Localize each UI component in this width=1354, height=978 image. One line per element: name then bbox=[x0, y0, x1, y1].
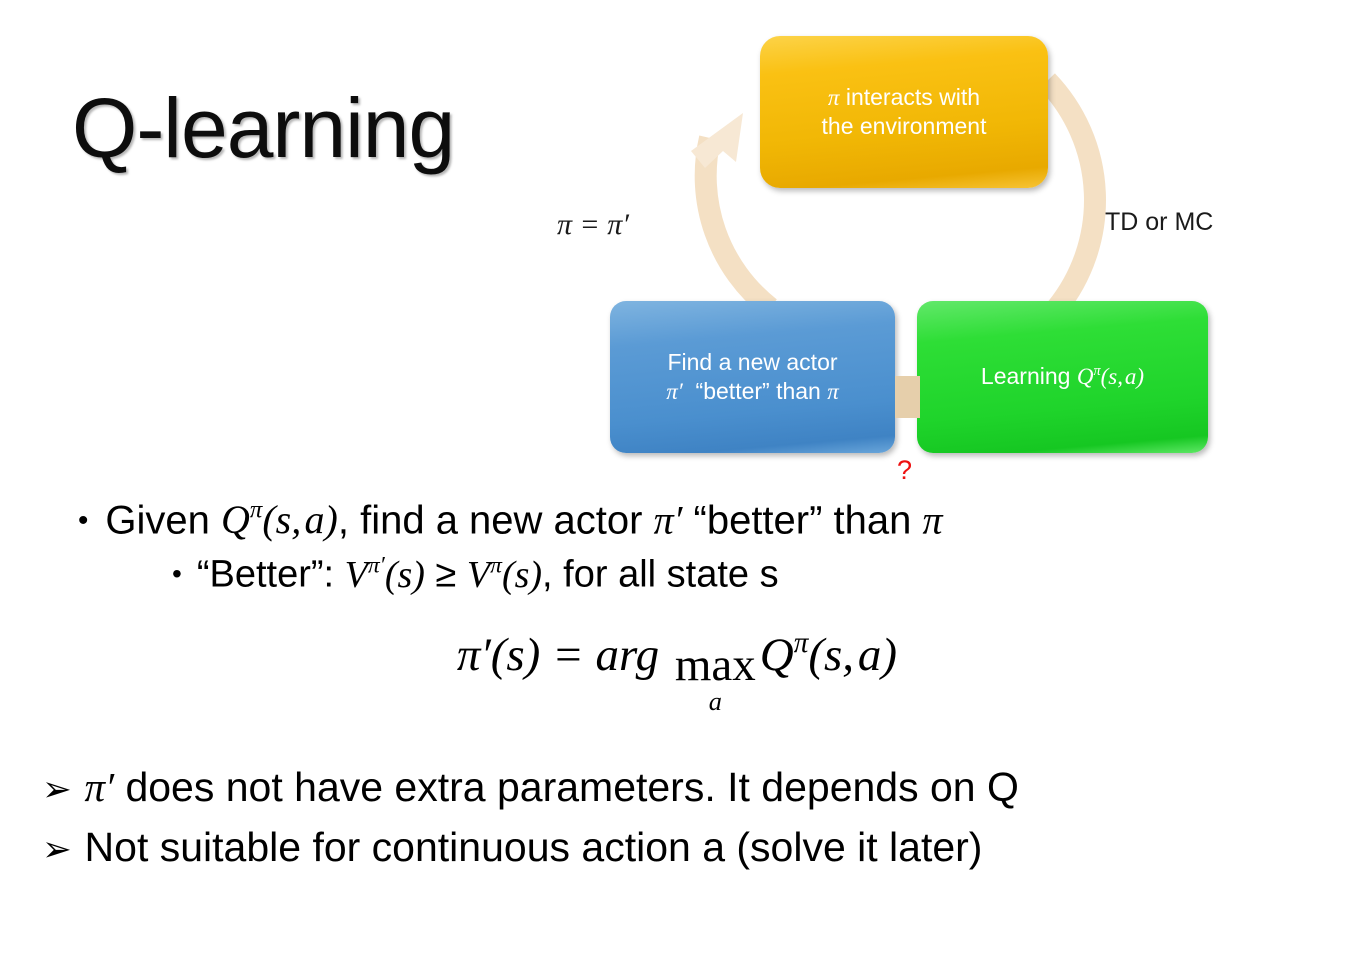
equation-arg: arg bbox=[596, 629, 671, 681]
page-title: Q-learning bbox=[72, 86, 454, 170]
display-equation-argmax: π′(s) = arg maxaQπ(s, a) bbox=[0, 627, 1354, 716]
bullet-better-suffix: , for all state s bbox=[542, 554, 779, 596]
node-learning-prefix: Learning bbox=[981, 363, 1077, 389]
bullet-given-suffix: “better” than bbox=[682, 498, 922, 542]
bullet-better-prefix: “Better”: bbox=[197, 554, 345, 596]
bullet-given-q: • Given Qπ(s, a), find a new actor π′ “b… bbox=[0, 497, 1354, 544]
node-environment-line2: the environment bbox=[822, 113, 987, 139]
node-learning-math: Qπ(s, a) bbox=[1077, 364, 1144, 389]
node-environment-line1: interacts with bbox=[839, 84, 980, 110]
node-environment-text: π interacts with the environment bbox=[812, 83, 997, 142]
node-actor-text: Find a new actor π′ “better” than π bbox=[656, 348, 849, 407]
diagram-node-environment[interactable]: π interacts with the environment bbox=[760, 36, 1048, 188]
arrow-bullet-no-extra-params: ➢ π′ does not have extra parameters. It … bbox=[0, 764, 1354, 811]
bullet-dot-icon: • bbox=[78, 506, 88, 536]
equation-max-op: max bbox=[675, 642, 756, 689]
diagram-node-find-actor[interactable]: Find a new actor π′ “better” than π bbox=[610, 301, 895, 453]
arrow-left-arc bbox=[691, 113, 770, 308]
arrow-bullet-icon: ➢ bbox=[42, 772, 72, 807]
policy-cycle-diagram: π interacts with the environment Find a … bbox=[560, 18, 1260, 488]
diagram-node-learning-q[interactable]: Learning Qπ(s, a) bbox=[917, 301, 1208, 453]
bullet-given-middle: , find a new actor bbox=[338, 498, 654, 542]
bullet-better-definition: • “Better”: Vπ′(s) ≥ Vπ(s), for all stat… bbox=[0, 552, 1354, 597]
equation-lhs: π′(s) bbox=[457, 629, 540, 681]
node-environment-line1-math: π bbox=[828, 85, 840, 110]
equation-equals: = bbox=[540, 629, 595, 681]
arrow-bullet-icon: ➢ bbox=[42, 832, 72, 867]
node-actor-line2-math-pi: π bbox=[827, 379, 839, 404]
arrow-bullet-0-text: does not have extra parameters. It depen… bbox=[114, 764, 1019, 810]
diagram-label-pi-equals-pi-prime: π = π′ bbox=[557, 208, 629, 242]
bullet-given-math-pi-prime: π′ bbox=[654, 497, 683, 542]
slide-body: • Given Qπ(s, a), find a new actor π′ “b… bbox=[0, 497, 1354, 885]
node-actor-line1: Find a new actor bbox=[667, 349, 837, 375]
bullet-better-math-v: Vπ(s) bbox=[467, 554, 542, 596]
bullet-dot-icon: • bbox=[172, 560, 182, 588]
connector-green-to-blue bbox=[895, 376, 920, 418]
diagram-label-td-or-mc: TD or MC bbox=[1105, 208, 1213, 237]
node-actor-line2-quoted: “better” than bbox=[689, 378, 827, 404]
arrow-bullet-not-suitable-continuous: ➢ Not suitable for continuous action a (… bbox=[0, 824, 1354, 871]
bullet-better-content: “Better”: Vπ′(s) ≥ Vπ(s), for all state … bbox=[197, 552, 779, 597]
equation-rhs: Qπ(s, a) bbox=[760, 629, 897, 681]
bullet-given-math-pi: π bbox=[923, 497, 943, 542]
node-actor-line2-math-pi-prime: π′ bbox=[666, 379, 683, 404]
bullet-given-content: Given Qπ(s, a), find a new actor π′ “bet… bbox=[105, 497, 942, 544]
arrow-bullet-list: ➢ π′ does not have extra parameters. It … bbox=[0, 764, 1354, 871]
diagram-question-mark: ? bbox=[897, 455, 912, 486]
arrow-bullet-0-content: π′ does not have extra parameters. It de… bbox=[85, 764, 1019, 811]
arrow-bullet-1-text: Not suitable for continuous action a (so… bbox=[85, 824, 983, 871]
bullet-better-relation: ≥ bbox=[425, 554, 467, 596]
arrow-bullet-0-math: π′ bbox=[85, 764, 115, 810]
equation-argmax-operator: maxa bbox=[675, 642, 756, 715]
node-learning-text: Learning Qπ(s, a) bbox=[971, 362, 1154, 391]
bullet-given-prefix: Given bbox=[105, 498, 221, 542]
bullet-better-math-v-prime: Vπ′(s) bbox=[345, 554, 425, 596]
bullet-given-math-q: Qπ(s, a) bbox=[221, 497, 338, 542]
equation-max-subscript: a bbox=[709, 689, 722, 715]
arrow-right-arc bbox=[1047, 81, 1095, 308]
